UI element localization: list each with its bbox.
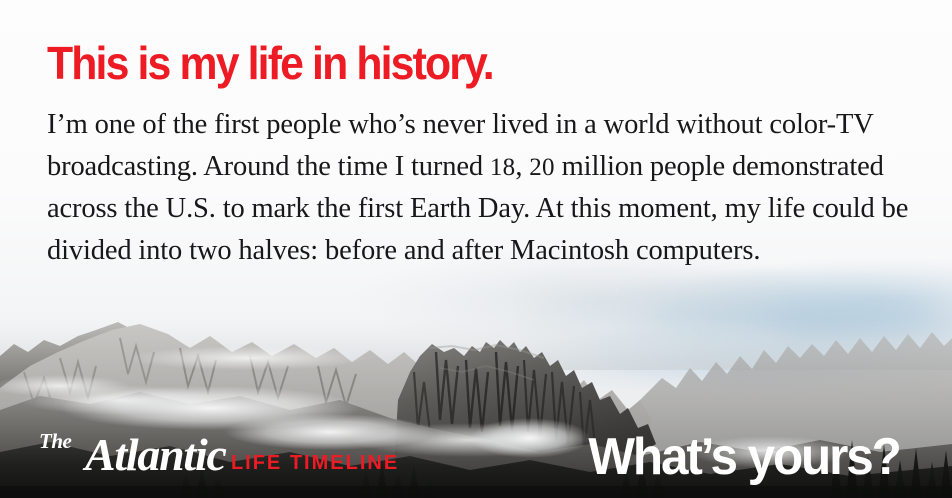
life-timeline-share-card: This is my life in history. I’m one of t… xyxy=(0,0,952,498)
life-timeline-tagline: LIFE TIMELINE xyxy=(231,452,399,478)
paragraph-segment: , xyxy=(515,151,529,182)
mist-cloud xyxy=(470,418,590,458)
atlantic-logo[interactable]: The Atlantic xyxy=(36,433,222,478)
story-paragraph: I’m one of the first people who’s never … xyxy=(47,104,925,271)
brand-lockup[interactable]: The Atlantic LIFE TIMELINE xyxy=(36,433,399,478)
call-to-action-text: What’s yours? xyxy=(589,429,900,485)
logo-atlantic-word: Atlantic xyxy=(36,433,226,478)
bottom-shadow xyxy=(0,486,952,498)
paragraph-numeral-age: 18 xyxy=(490,154,515,181)
paragraph-numeral-millions: 20 xyxy=(529,154,554,181)
mist-cloud xyxy=(128,346,368,370)
page-title: This is my life in history. xyxy=(47,38,493,88)
